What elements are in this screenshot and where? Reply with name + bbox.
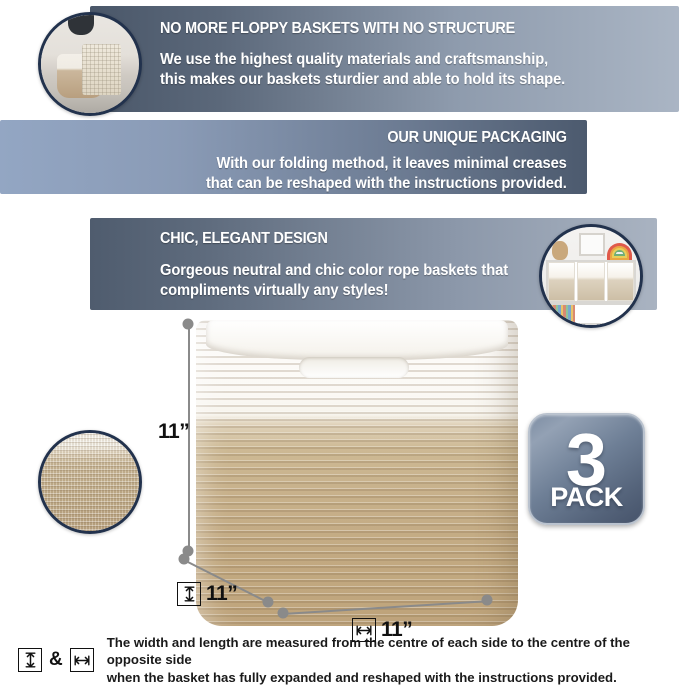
feature-banner-no-floppy-baskets: NO MORE FLOPPY BASKETS WITH NO STRUCTURE… xyxy=(0,6,679,112)
banner-body-line-1: We use the highest quality materials and… xyxy=(160,50,565,70)
ampersand-separator: & xyxy=(49,649,63,671)
basket-with-towel-photo xyxy=(38,12,142,116)
shelf-cubby-empty xyxy=(577,305,604,323)
measure-dot-depth-start xyxy=(179,554,190,565)
basket-rim xyxy=(206,320,509,360)
disclaimer-line-1: The width and length are measured from t… xyxy=(107,634,668,669)
banner-heading: OUR UNIQUE PACKAGING xyxy=(214,129,567,147)
storage-bin xyxy=(577,262,604,301)
pack-count-number: 3 xyxy=(566,431,607,489)
measure-dot-width-end xyxy=(482,595,493,606)
banner-body-line-2: compliments virtually any styles! xyxy=(160,281,508,301)
rainbow-decor-shape xyxy=(607,243,632,261)
measurement-disclaimer: & The width and length are measured from… xyxy=(18,634,668,686)
banner-text-block: CHIC, ELEGANT DESIGN Gorgeous neutral an… xyxy=(160,230,526,300)
storage-bin xyxy=(548,262,575,301)
shelf-upper-row xyxy=(546,260,636,303)
rope-weave-closeup-photo xyxy=(38,430,142,534)
photo-backdrop xyxy=(542,227,640,325)
height-dimension-label: 11” xyxy=(158,420,189,444)
towel-shape xyxy=(82,44,121,95)
banner-heading: CHIC, ELEGANT DESIGN xyxy=(160,230,501,248)
banner-body-line-2: that can be reshaped with the instructio… xyxy=(206,174,567,194)
photo-backdrop xyxy=(41,433,139,531)
nursery-shelf-photo xyxy=(539,224,643,328)
vertical-arrow-icon xyxy=(177,582,201,606)
storage-bin xyxy=(607,262,634,301)
banner-body-line-1: Gorgeous neutral and chic color rope bas… xyxy=(160,261,508,281)
shelf-cubby-empty xyxy=(607,305,634,323)
basket-handle xyxy=(299,357,408,378)
depth-dimension-label: 11” xyxy=(177,582,237,606)
vertical-arrow-icon xyxy=(18,648,42,672)
plant-pot-shape xyxy=(68,12,93,35)
measure-dot-depth-end xyxy=(263,597,274,608)
disclaimer-line-2: when the basket has fully expanded and r… xyxy=(107,669,668,686)
feature-banner-unique-packaging: OUR UNIQUE PACKAGING With our folding me… xyxy=(0,120,679,194)
teddy-bear-shape xyxy=(552,241,569,261)
depth-value: 11” xyxy=(206,582,237,606)
woven-rope-basket-image xyxy=(196,320,518,626)
measure-dot-height-top xyxy=(183,319,194,330)
height-value: 11” xyxy=(158,420,189,444)
banner-heading: NO MORE FLOPPY BASKETS WITH NO STRUCTURE xyxy=(160,20,557,38)
banner-text-block: OUR UNIQUE PACKAGING With our folding me… xyxy=(187,129,567,193)
pack-count-word: PACK xyxy=(550,484,623,511)
measure-dot-width-start xyxy=(278,608,289,619)
disclaimer-text: The width and length are measured from t… xyxy=(107,634,668,686)
books-shape xyxy=(548,305,575,323)
banner-body-line-2: this makes our baskets sturdier and able… xyxy=(160,70,565,90)
pack-count-badge: 3 PACK xyxy=(528,413,645,525)
shelf-lower-row xyxy=(546,303,636,325)
photo-backdrop xyxy=(41,15,139,113)
banner-body-line-1: With our folding method, it leaves minim… xyxy=(206,154,567,174)
wall-art-frame-shape xyxy=(579,233,604,257)
banner-text-block: NO MORE FLOPPY BASKETS WITH NO STRUCTURE… xyxy=(160,20,587,89)
horizontal-arrow-icon xyxy=(70,648,94,672)
